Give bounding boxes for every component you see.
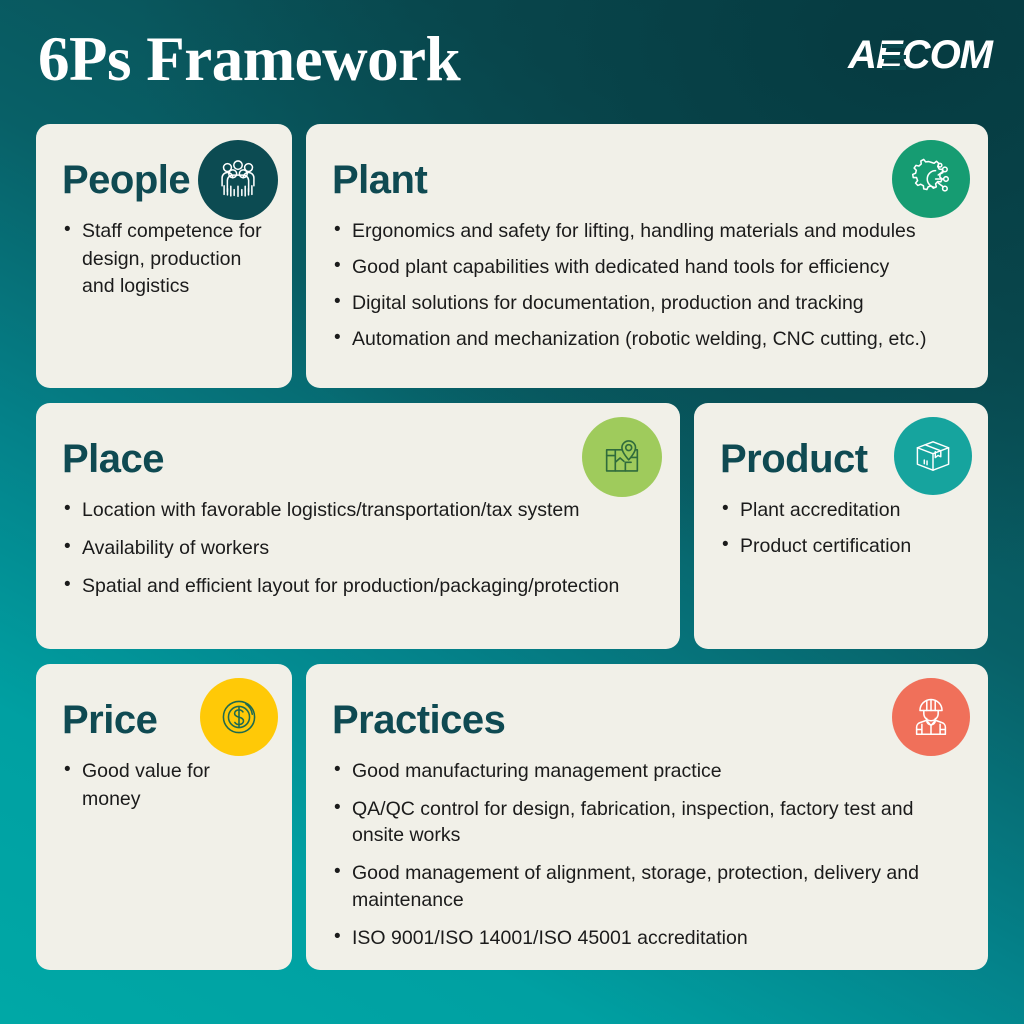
list-item: Good value for money <box>62 758 266 813</box>
card-bullet-list: Good manufacturing management practice Q… <box>332 758 962 951</box>
card-people[interactable]: People Staff competence for design, prod… <box>36 124 292 388</box>
list-item: QA/QC control for design, fabrication, i… <box>332 796 962 848</box>
list-item: Product certification <box>720 533 962 559</box>
card-heading: Practices <box>332 700 962 740</box>
logo-bar-icon <box>882 44 906 48</box>
card-plant[interactable]: Plant Ergonomics and safety for lifting,… <box>306 124 988 388</box>
aecom-logo: AECOM <box>848 33 992 78</box>
card-bullet-list: Good value for money <box>62 758 266 813</box>
list-item: Good manufacturing management practice <box>332 758 962 784</box>
list-item: Availability of workers <box>62 535 654 561</box>
card-heading: Plant <box>332 160 962 200</box>
card-bullet-list: Location with favorable logistics/transp… <box>62 497 654 599</box>
list-item: Spatial and efficient layout for product… <box>62 573 654 599</box>
list-item: Plant accreditation <box>720 497 962 523</box>
card-heading: Place <box>62 439 654 479</box>
list-item: Ergonomics and safety for lifting, handl… <box>332 218 962 244</box>
list-item: ISO 9001/ISO 14001/ISO 45001 accreditati… <box>332 925 962 951</box>
card-bullet-list: Ergonomics and safety for lifting, handl… <box>332 218 962 353</box>
card-practices[interactable]: Practices Good manufacturing management … <box>306 664 988 970</box>
aecom-logo-text: AECOM <box>848 33 992 78</box>
list-item: Good plant capabilities with dedicated h… <box>332 254 962 280</box>
card-place[interactable]: Place Location with favorable logistics/… <box>36 403 680 649</box>
map-pin-icon <box>582 417 662 497</box>
cards-row-2: Place Location with favorable logistics/… <box>36 403 988 649</box>
card-product[interactable]: Product Plant accreditation Product cert… <box>694 403 988 649</box>
cards-grid: People Staff competence for design, prod… <box>36 124 988 985</box>
coin-dollar-icon <box>200 678 278 756</box>
cards-row-3: Price Good value for money <box>36 664 988 970</box>
card-bullet-list: Staff competence for design, production … <box>62 218 266 301</box>
poster-header: 6Ps Framework AECOM <box>0 0 1024 120</box>
card-bullet-list: Plant accreditation Product certificatio… <box>720 497 962 559</box>
page-title: 6Ps Framework <box>38 28 460 91</box>
infographic-poster: 6Ps Framework AECOM <box>0 0 1024 1024</box>
cards-row-1: People Staff competence for design, prod… <box>36 124 988 388</box>
list-item: Automation and mechanization (robotic we… <box>332 326 962 352</box>
card-price[interactable]: Price Good value for money <box>36 664 292 970</box>
list-item: Location with favorable logistics/transp… <box>62 497 654 523</box>
people-group-icon <box>198 140 278 220</box>
list-item: Staff competence for design, production … <box>62 218 266 301</box>
logo-bar-icon <box>882 55 906 59</box>
gear-circuit-icon <box>892 140 970 218</box>
list-item: Good management of alignment, storage, p… <box>332 860 962 912</box>
list-item: Digital solutions for documentation, pro… <box>332 290 962 316</box>
construction-worker-icon <box>892 678 970 756</box>
logo-bar-icon <box>882 66 906 70</box>
package-box-icon <box>894 417 972 495</box>
